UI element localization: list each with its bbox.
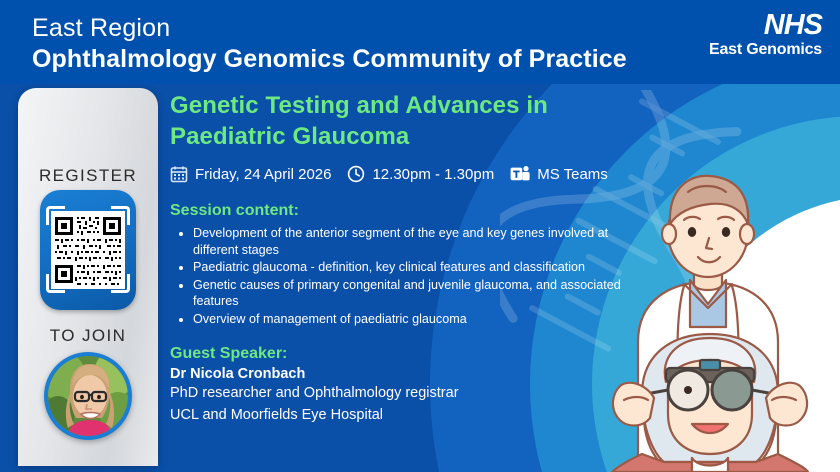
guest-speaker-heading: Guest Speaker: [170, 345, 650, 363]
header-title-line: Ophthalmology Genomics Community of Prac… [32, 45, 627, 74]
avatar [44, 352, 132, 440]
meta-item-time: 12.30pm - 1.30pm [347, 165, 494, 183]
session-title: Genetic Testing and Advances in Paediatr… [170, 90, 650, 152]
qr-scan-bracket-tr [111, 206, 130, 225]
qr-code-icon[interactable] [40, 190, 136, 310]
register-label: REGISTER [18, 166, 158, 186]
ms-teams-icon [510, 165, 530, 183]
header-region-line: East Region [32, 14, 170, 43]
east-genomics-logo-text: East Genomics [702, 40, 822, 60]
register-card[interactable]: REGISTER [18, 88, 158, 466]
meta-platform-text: MS Teams [537, 166, 608, 183]
session-content-heading: Session content: [170, 202, 650, 220]
qr-scan-bracket-br [111, 274, 130, 293]
session-content-list: Development of the anterior segment of t… [170, 225, 650, 327]
session-meta-row: Friday, 24 April 2026 12.30pm - 1.30pm [170, 165, 650, 183]
meta-time-text: 12.30pm - 1.30pm [372, 166, 494, 183]
list-item: Development of the anterior segment of t… [193, 225, 650, 258]
clock-icon [347, 165, 365, 183]
list-item: Genetic causes of primary congenital and… [193, 277, 650, 310]
qr-scan-bracket-bl [46, 274, 65, 293]
meta-item-platform: MS Teams [510, 165, 608, 183]
calendar-icon [170, 165, 188, 183]
poster-canvas: East Region Ophthalmology Genomics Commu… [0, 0, 840, 472]
qr-scan-bracket-tl [46, 206, 65, 225]
list-item: Overview of management of paediatric gla… [193, 311, 650, 328]
poster-header: East Region Ophthalmology Genomics Commu… [0, 0, 840, 84]
speaker-headshot [48, 356, 128, 436]
to-join-label: TO JOIN [18, 326, 158, 346]
speaker-role-line-1: PhD researcher and Ophthalmology registr… [170, 383, 650, 404]
meta-item-date: Friday, 24 April 2026 [170, 165, 331, 183]
nhs-east-genomics-logo: NHS East Genomics [702, 10, 822, 72]
speaker-name: Dr Nicola Cronbach [170, 366, 650, 382]
speaker-role-line-2: UCL and Moorfields Eye Hospital [170, 405, 650, 426]
list-item: Paediatric glaucoma - definition, key cl… [193, 259, 650, 276]
main-content: Genetic Testing and Advances in Paediatr… [170, 90, 650, 426]
meta-date-text: Friday, 24 April 2026 [195, 166, 331, 183]
nhs-logo-text: NHS [702, 10, 822, 40]
